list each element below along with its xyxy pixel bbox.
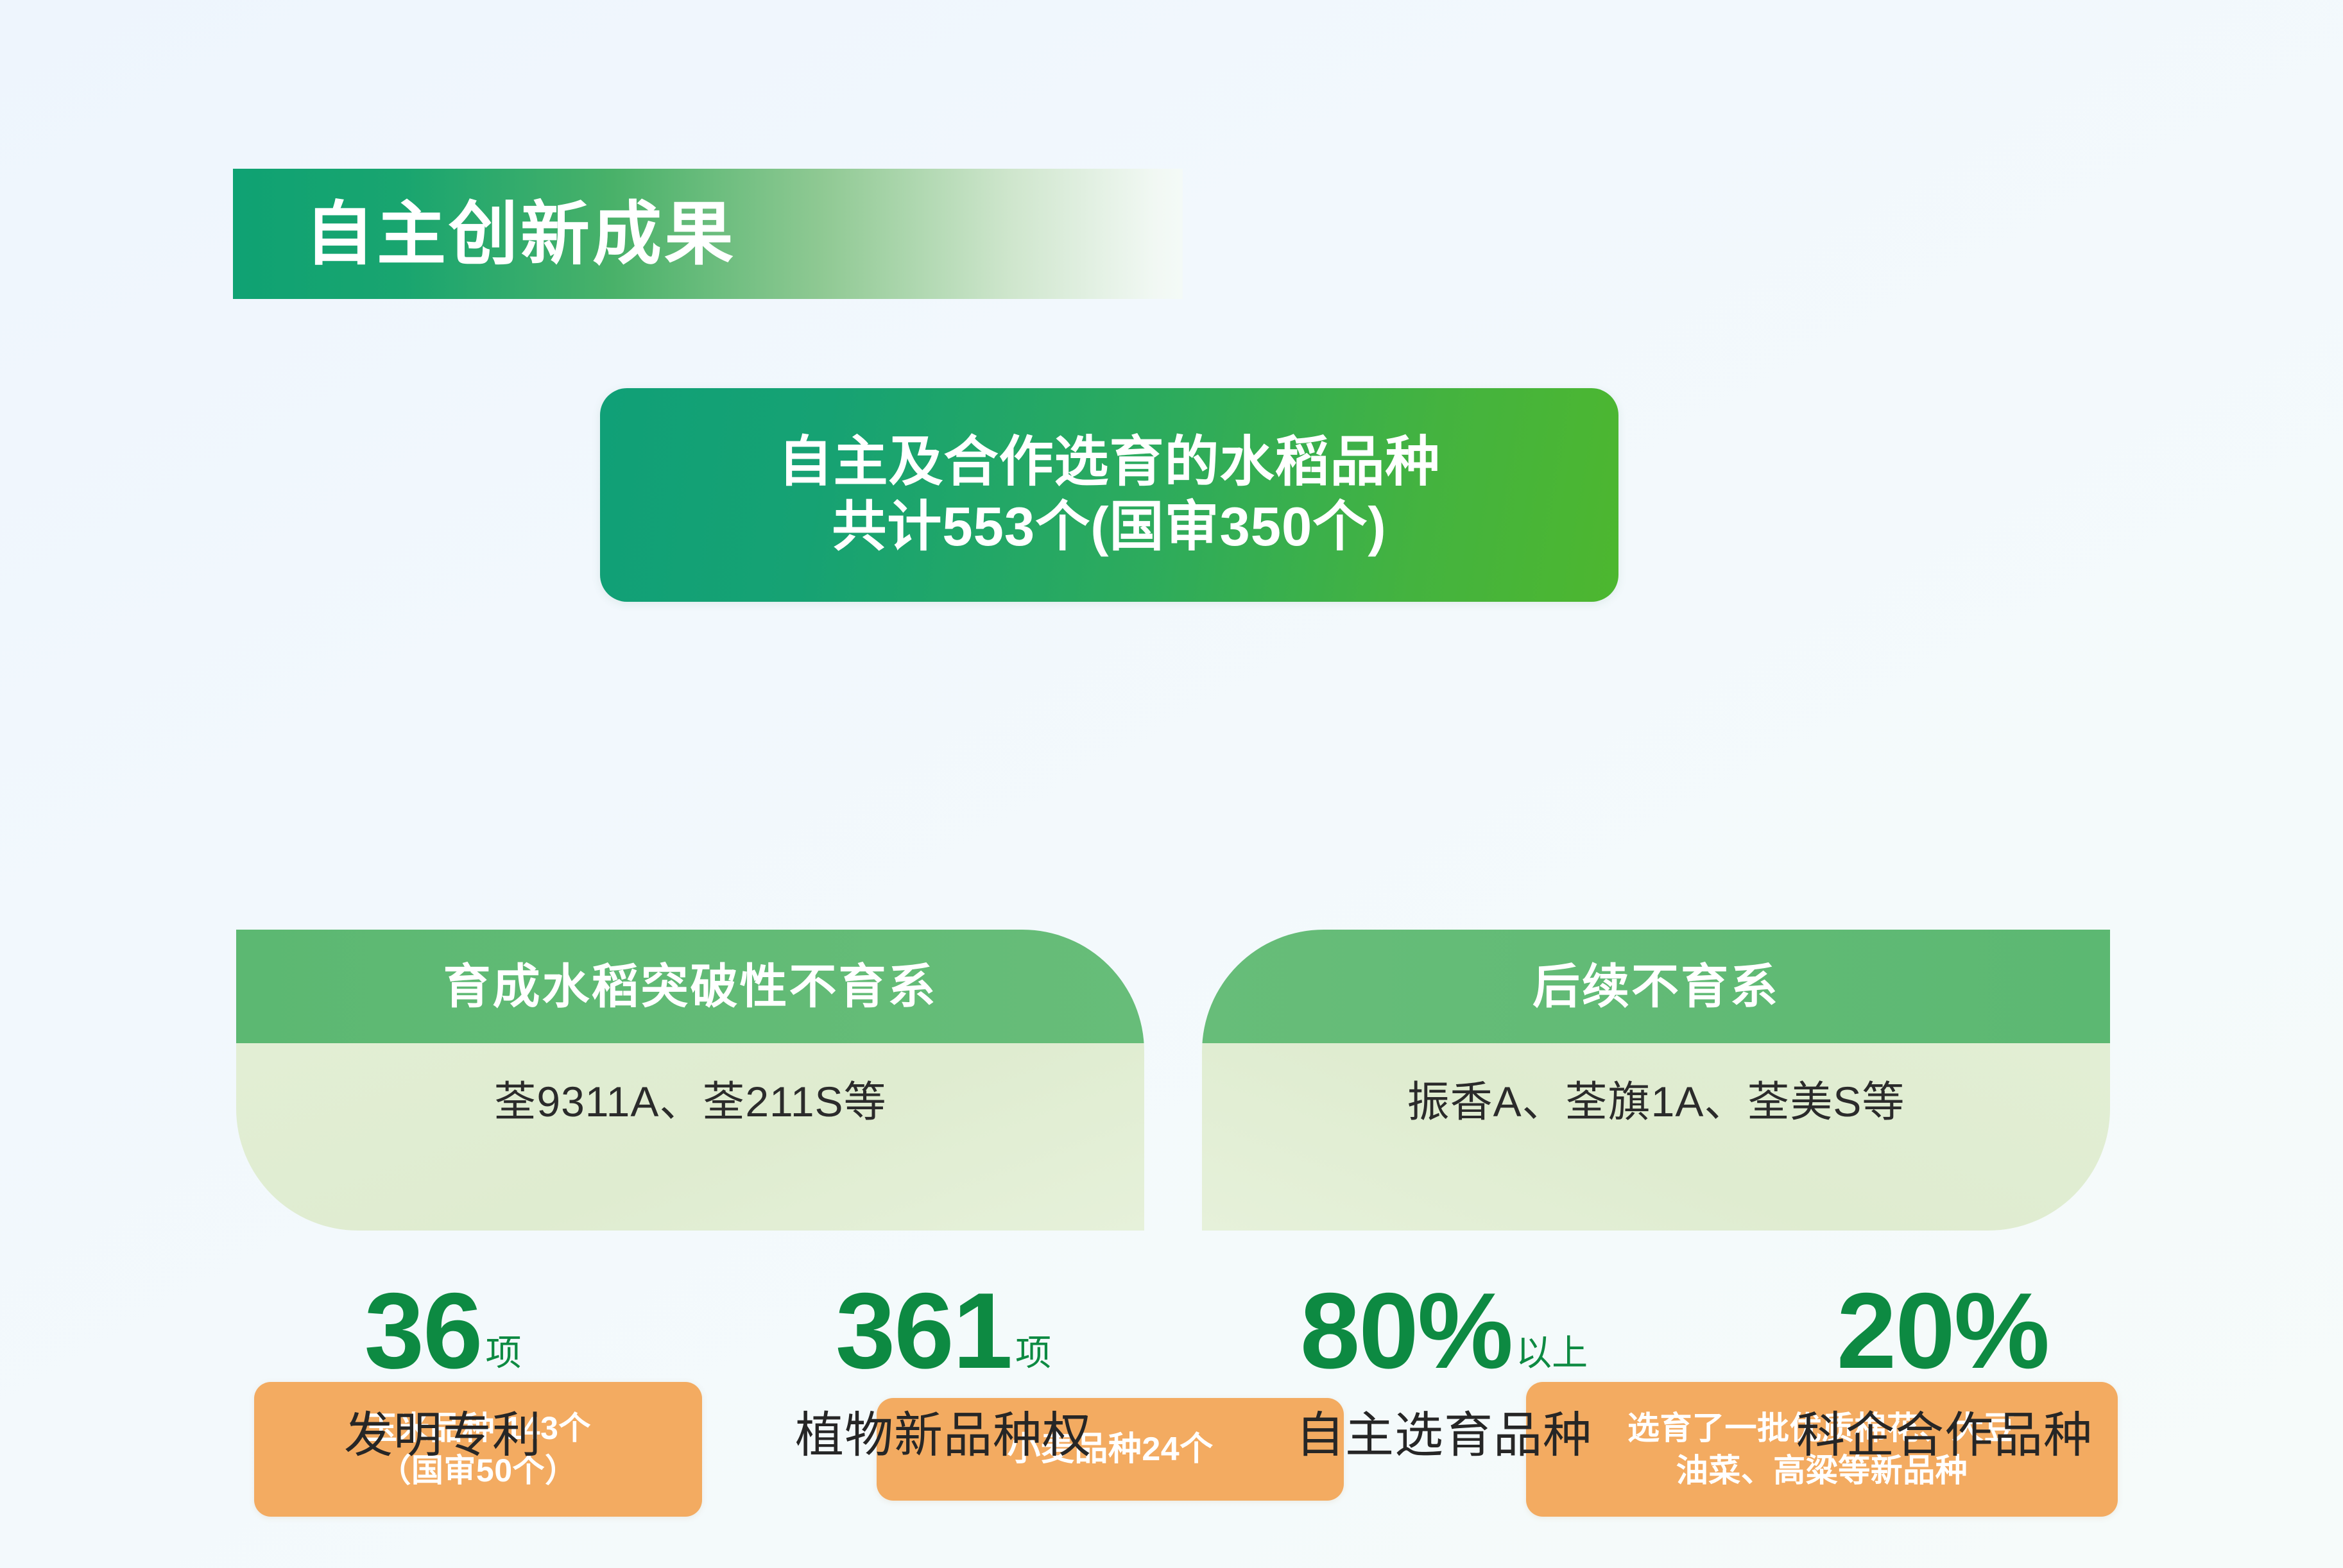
- panel-left-body-label: 荃9311A、荃211S等: [493, 1080, 886, 1123]
- stat-label-self-bred-varieties: 自主选育品种: [1296, 1411, 1592, 1460]
- stat-suffix-invention-patents: 项: [485, 1335, 521, 1371]
- stat-label-plant-variety-rights: 植物新品种权: [795, 1411, 1092, 1460]
- panel-followup-sterile-lines: 后续不育系 振香A、荃旗1A、荃美S等: [1202, 930, 2110, 1231]
- crop-boxes-row: 玉米品种 143个 （国审50个） 小麦品种24个 选育了一批优质棉花、大豆 油…: [0, 690, 2343, 837]
- stat-number-invention-patents: 36: [365, 1277, 482, 1385]
- panel-right-header-label: 后续不育系: [1532, 963, 1780, 1010]
- stat-invention-patents: 36 项 发明专利: [193, 1277, 693, 1533]
- panel-breakthrough-sterile-lines: 育成水稻突破性不育系 荃9311A、荃211S等: [236, 930, 1144, 1231]
- stat-suffix-plant-variety-rights: 项: [1015, 1335, 1051, 1371]
- panel-left-header-label: 育成水稻突破性不育系: [443, 963, 938, 1010]
- panel-right-body: 振香A、荃旗1A、荃美S等: [1202, 1043, 2110, 1231]
- stat-value-invention-patents: 36 项: [365, 1277, 522, 1386]
- panel-right-header: 后续不育系: [1202, 930, 2110, 1043]
- section-banner: 自主创新成果: [233, 169, 1183, 299]
- stat-plant-variety-rights: 361 项 植物新品种权: [693, 1277, 1194, 1533]
- panel-left-body: 荃9311A、荃211S等: [236, 1043, 1144, 1231]
- stat-value-self-bred-varieties: 80% 以上: [1300, 1277, 1588, 1386]
- stat-number-research-enterprise-cooperation: 20%: [1837, 1277, 2048, 1385]
- stat-number-plant-variety-rights: 361: [836, 1277, 1011, 1385]
- stat-value-plant-variety-rights: 361 项: [836, 1277, 1051, 1386]
- stat-label-research-enterprise-cooperation: 科企合作品种: [1796, 1411, 2093, 1460]
- stat-research-enterprise-cooperation: 20% 科企合作品种: [1694, 1277, 2195, 1533]
- stats-row: 36 项 发明专利 361 项 植物新品种权 80% 以上 自主选育品种 20%…: [193, 1277, 2195, 1533]
- panel-left-header: 育成水稻突破性不育系: [236, 930, 1144, 1043]
- panel-right-body-label: 振香A、荃旗1A、荃美S等: [1407, 1080, 1905, 1123]
- stat-number-self-bred-varieties: 80%: [1300, 1277, 1512, 1385]
- stat-value-research-enterprise-cooperation: 20%: [1837, 1277, 2052, 1386]
- hero-card-rice-varieties: 自主及合作选育的水稻品种 共计553个(国审350个): [600, 388, 1618, 602]
- stat-label-invention-patents: 发明专利: [344, 1411, 542, 1460]
- stat-self-bred-varieties: 80% 以上 自主选育品种: [1194, 1277, 1694, 1533]
- hero-line-2: 共计553个(国审350个): [832, 495, 1386, 559]
- hero-line-1: 自主及合作选育的水稻品种: [778, 430, 1440, 495]
- stat-suffix-self-bred-varieties: 以上: [1516, 1335, 1588, 1371]
- page-title: 自主创新成果: [305, 200, 736, 269]
